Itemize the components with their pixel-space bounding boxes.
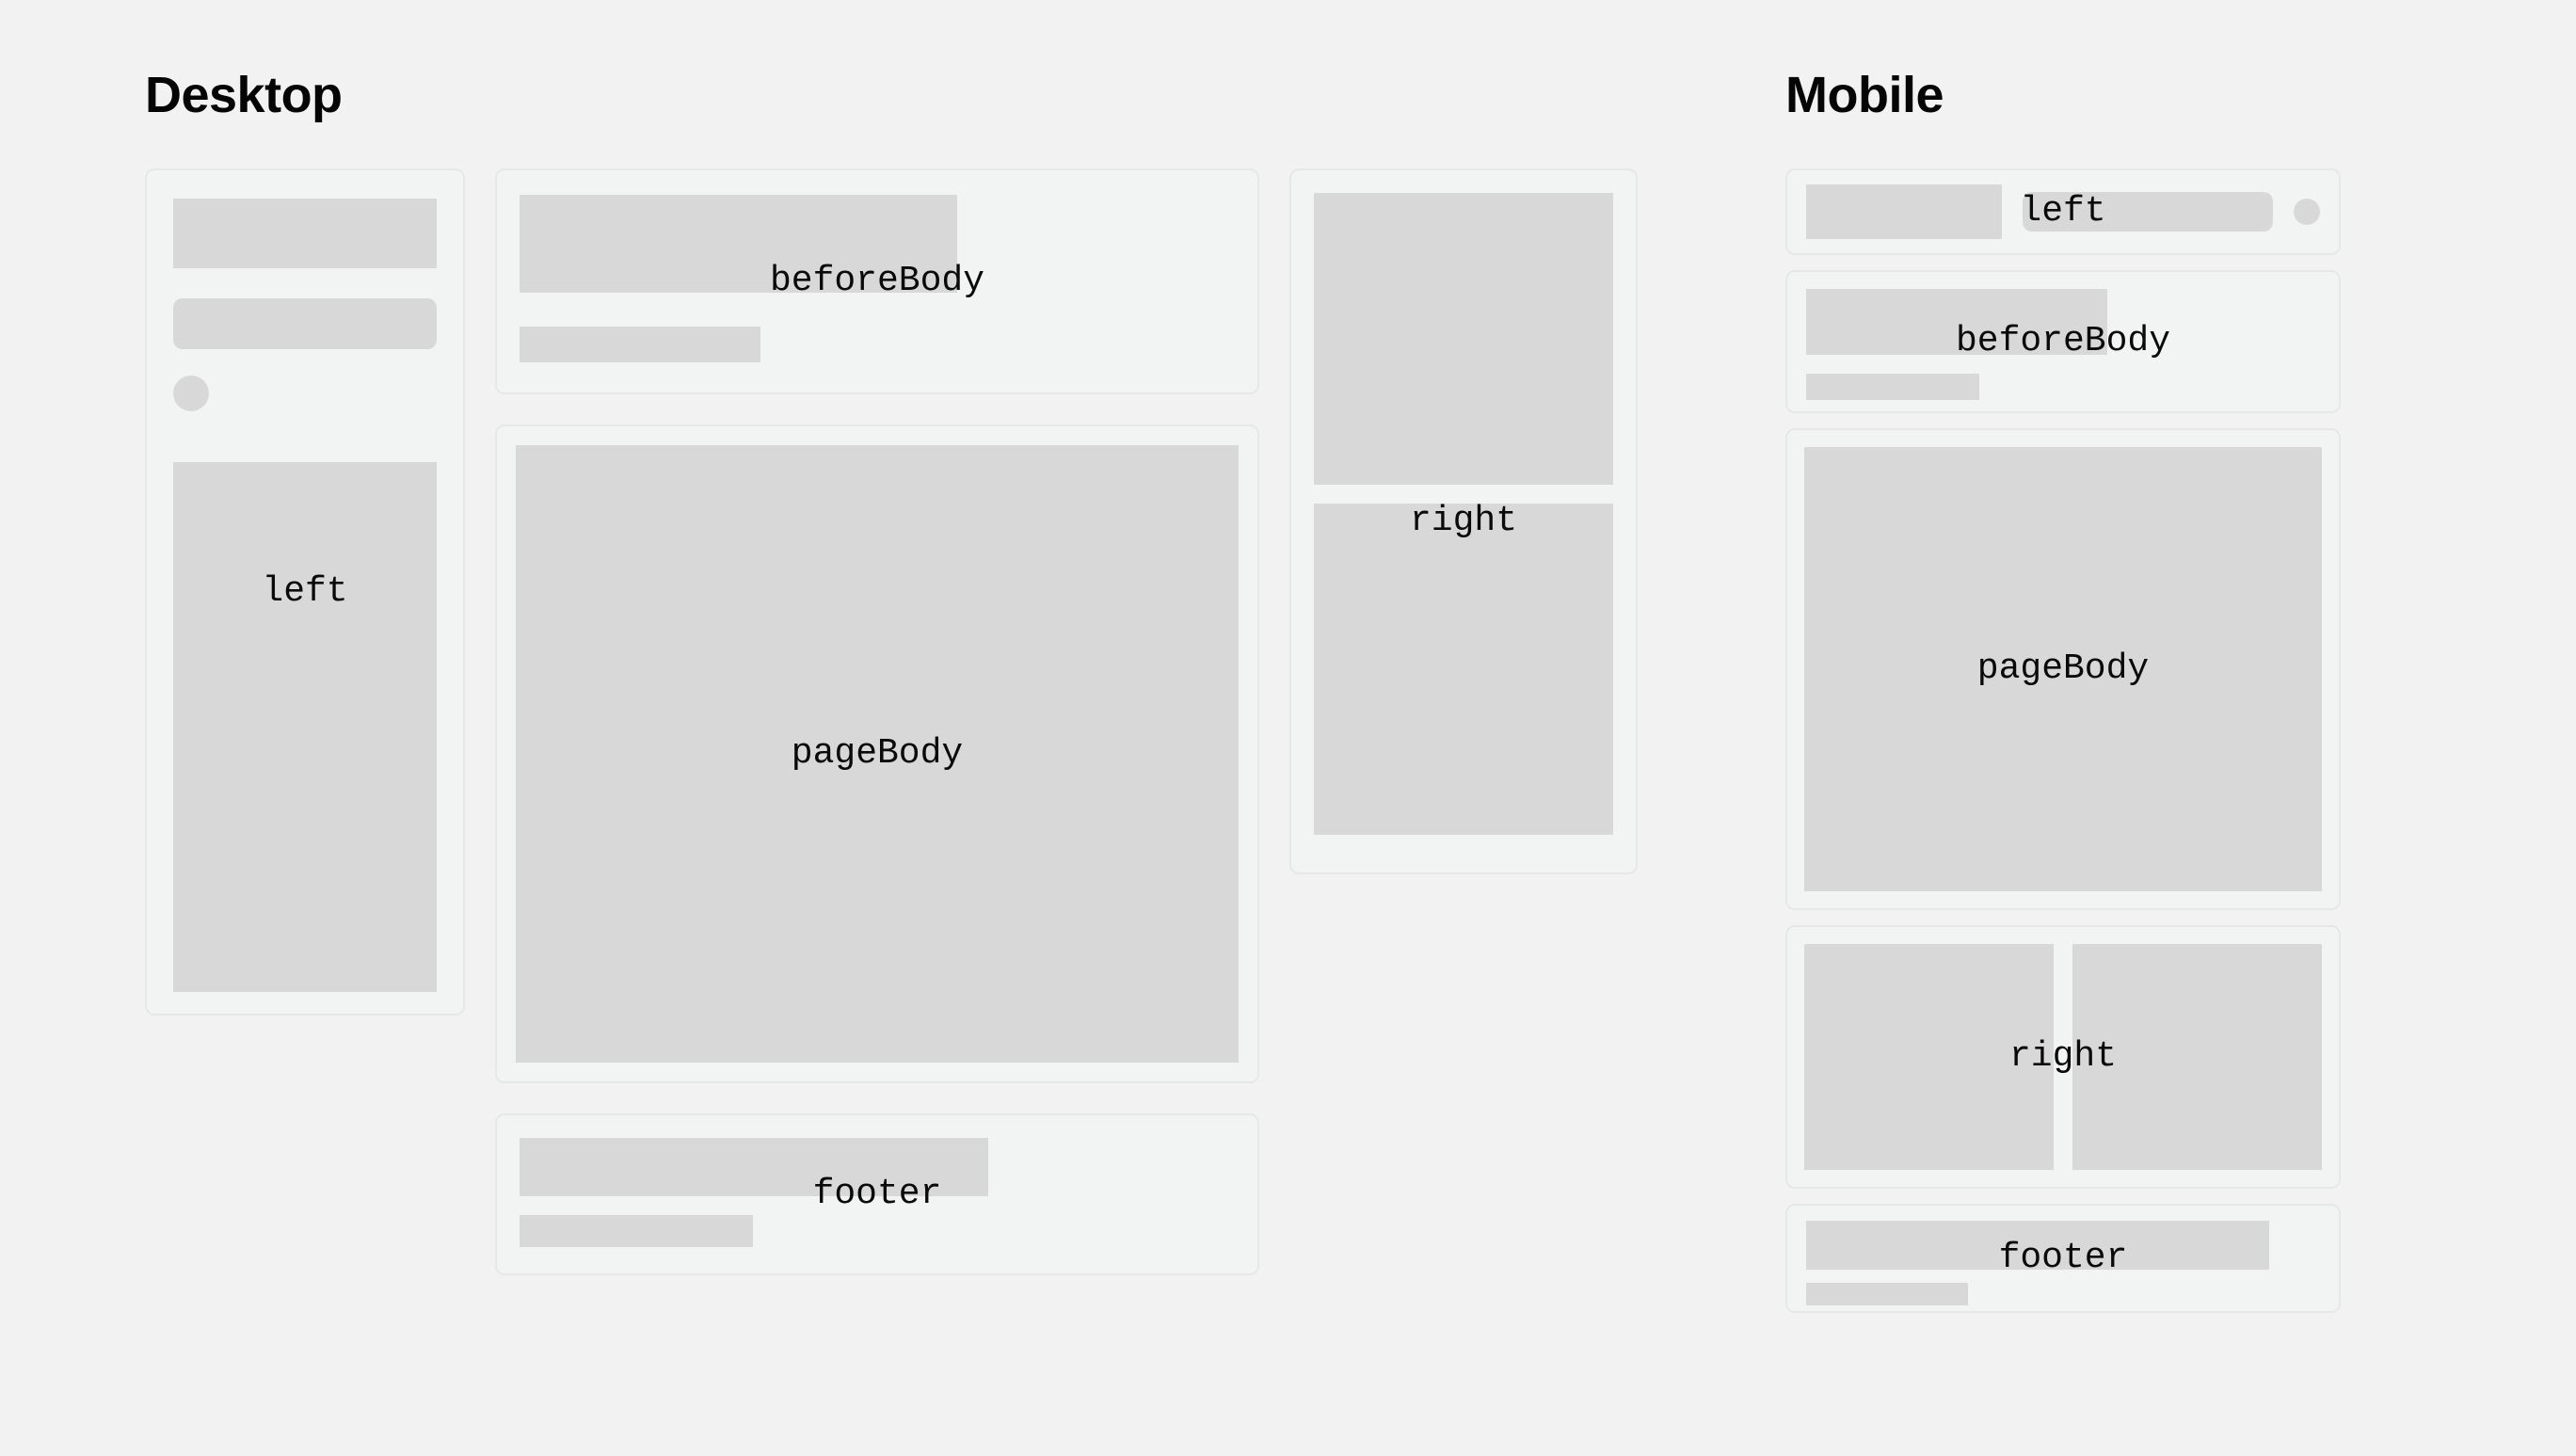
skeleton-block-top <box>1314 193 1613 485</box>
desktop-slot-footer[interactable]: footer <box>495 1113 1259 1275</box>
skeleton-block-column-right <box>2072 944 2322 1170</box>
mobile-panel-title: Mobile <box>1785 68 2341 123</box>
skeleton-avatar-circle <box>2294 199 2320 225</box>
skeleton-block-small <box>520 1215 753 1247</box>
skeleton-block-fill <box>1804 447 2322 891</box>
skeleton-bar <box>173 298 437 349</box>
skeleton-block-panel <box>173 462 437 992</box>
skeleton-block-wide <box>520 195 957 293</box>
skeleton-block-rect <box>1806 184 2002 239</box>
skeleton-block-column-left <box>1804 944 2054 1170</box>
skeleton-block-fill <box>516 445 1239 1063</box>
mobile-slot-left[interactable]: left <box>1785 168 2341 255</box>
desktop-slot-left[interactable]: left <box>145 168 465 1016</box>
desktop-slot-page-body[interactable]: pageBody <box>495 424 1259 1083</box>
skeleton-block-wide <box>1806 289 2107 355</box>
desktop-center-column: beforeBody pageBody footer <box>495 168 1259 1275</box>
desktop-preview-panel: Desktop left beforeBody pageBod <box>145 68 1670 1275</box>
skeleton-block-small <box>1806 1283 1968 1305</box>
skeleton-block-small <box>1806 374 1979 400</box>
mobile-slot-right[interactable]: right <box>1785 925 2341 1189</box>
skeleton-block-wide <box>1806 1221 2269 1270</box>
layout-preview-page: Desktop left beforeBody pageBod <box>0 0 2576 1456</box>
desktop-slot-before-body[interactable]: beforeBody <box>495 168 1259 394</box>
mobile-preview-panel: Mobile left beforeBody pageBody right <box>1785 68 2341 1313</box>
skeleton-bar <box>2023 192 2273 232</box>
skeleton-block-hero <box>173 199 437 268</box>
mobile-slot-footer[interactable]: footer <box>1785 1204 2341 1313</box>
mobile-slot-page-body[interactable]: pageBody <box>1785 428 2341 910</box>
mobile-slot-before-body[interactable]: beforeBody <box>1785 270 2341 413</box>
desktop-slot-right[interactable]: right <box>1289 168 1638 874</box>
desktop-panel-title: Desktop <box>145 68 1670 123</box>
skeleton-block-wide <box>520 1138 988 1196</box>
desktop-layout-grid: left beforeBody pageBody footer <box>145 168 1670 1275</box>
skeleton-avatar-circle <box>173 376 209 411</box>
skeleton-block-small <box>520 327 760 362</box>
mobile-layout-stack: left beforeBody pageBody right footer <box>1785 168 2341 1313</box>
skeleton-block-bottom <box>1314 504 1613 835</box>
